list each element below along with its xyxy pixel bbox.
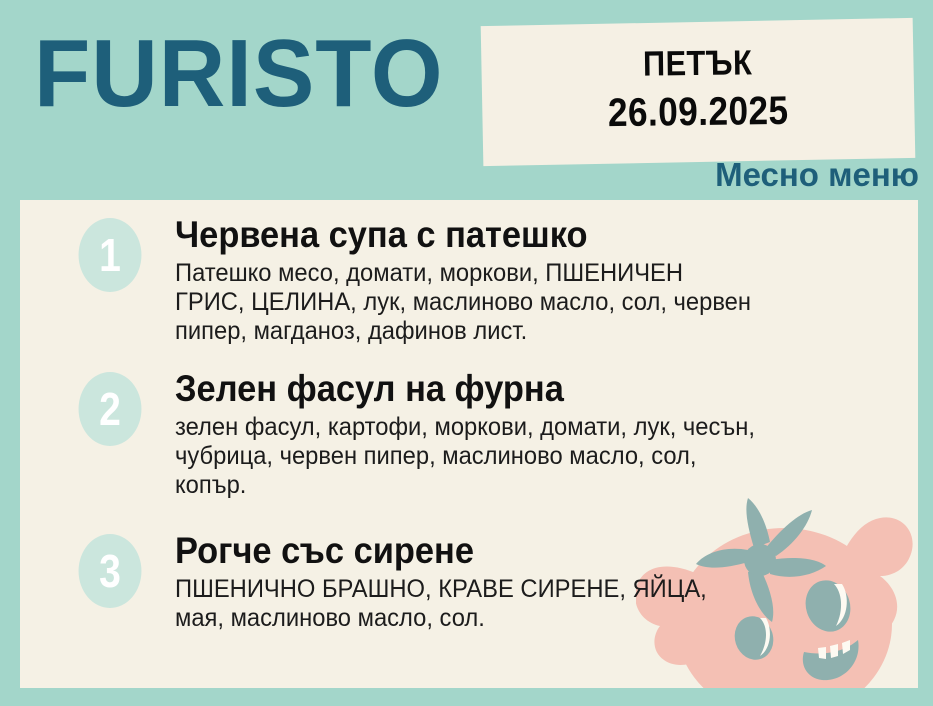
menu-item-description: Патешко месо, домати, моркови, ПШЕНИЧЕН … (175, 259, 756, 346)
menu-item-number-badge: 3 (79, 534, 142, 608)
menu-kind-label: Месно меню (715, 157, 919, 193)
weekday-label: ПЕТЪК (507, 38, 888, 91)
date-card: ПЕТЪК 26.09.2025 (481, 18, 916, 166)
menu-item-number-badge: 2 (79, 372, 142, 446)
poster-header: FURISTO ПЕТЪК 26.09.2025 Месно меню (0, 0, 933, 200)
menu-item-description: зелен фасул, картофи, моркови, домати, л… (175, 413, 756, 500)
menu-item-body: Зелен фасул на фурна зелен фасул, картоф… (175, 368, 775, 500)
menu-card: 1 Червена супа с патешко Патешко месо, д… (20, 200, 918, 688)
menu-item-body: Рогче със сирене ПШЕНИЧНО БРАШНО, КРАВЕ … (175, 530, 775, 633)
menu-poster: FURISTO ПЕТЪК 26.09.2025 Месно меню (0, 0, 933, 706)
menu-item-body: Червена супа с патешко Патешко месо, дом… (175, 214, 775, 346)
menu-item-description: ПШЕНИЧНО БРАШНО, КРАВЕ СИРЕНЕ, ЯЙЦА, мая… (175, 575, 745, 633)
menu-item-title: Червена супа с патешко (175, 214, 733, 256)
menu-item-title: Рогче със сирене (175, 530, 733, 572)
date-card-inner: ПЕТЪК 26.09.2025 (481, 37, 914, 138)
date-label: 26.09.2025 (508, 86, 889, 139)
menu-item-title: Зелен фасул на фурна (175, 368, 733, 410)
menu-item-number-badge: 1 (79, 218, 142, 292)
brand-logo: FURISTO (34, 26, 444, 122)
